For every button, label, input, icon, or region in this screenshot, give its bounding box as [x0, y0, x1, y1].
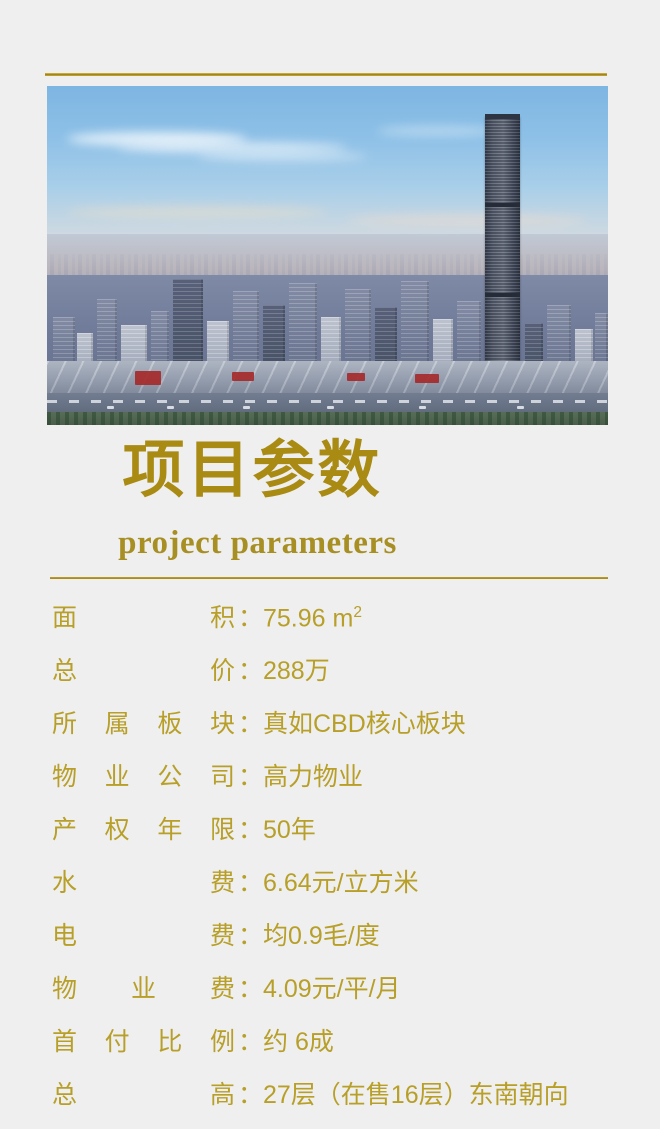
label-char: 公 — [157, 757, 182, 793]
label-char: 总 — [52, 1075, 77, 1111]
parameter-row: 产权年限：50年 — [0, 810, 660, 863]
label-char: 块 — [210, 704, 235, 740]
label-chars: 总价 — [52, 651, 237, 687]
parameter-row: 面积：75.96 m2 — [0, 598, 660, 651]
label-char: 板 — [157, 704, 182, 740]
parameter-label: 总高： — [0, 1075, 263, 1111]
mall-podium — [47, 361, 608, 395]
label-chars: 水费 — [52, 863, 237, 899]
label-char: 水 — [52, 863, 77, 899]
label-char: 物 — [52, 757, 77, 793]
signature-tower — [485, 117, 520, 387]
label-colon: ： — [237, 1075, 263, 1111]
parameter-row: 物业费：4.09元/平/月 — [0, 969, 660, 1022]
label-colon: ： — [237, 1022, 263, 1058]
page-title: 项目参数 — [0, 440, 660, 502]
label-chars: 电费 — [52, 916, 237, 952]
mall-sign — [135, 371, 161, 385]
label-chars: 物业费 — [52, 969, 237, 1005]
label-chars: 首付比例 — [52, 1022, 237, 1058]
vehicle — [327, 406, 334, 409]
parameter-row: 总价：288万 — [0, 651, 660, 704]
green-belt — [47, 412, 608, 425]
parameter-value: 288万 — [263, 651, 330, 687]
parameter-label: 总价： — [0, 651, 263, 687]
parameter-label: 首付比例： — [0, 1022, 263, 1058]
parameter-label: 面积： — [0, 598, 263, 634]
cloud — [67, 206, 327, 218]
label-char: 例 — [210, 1022, 235, 1058]
label-colon: ： — [237, 704, 263, 740]
label-colon: ： — [237, 757, 263, 793]
top-divider — [45, 73, 607, 76]
label-char: 产 — [52, 810, 77, 846]
parameter-label: 物业费： — [0, 969, 263, 1005]
section-divider — [50, 577, 608, 579]
label-colon: ： — [237, 810, 263, 846]
parameter-label: 水费： — [0, 863, 263, 899]
label-colon: ： — [237, 969, 263, 1005]
label-char: 付 — [105, 1022, 130, 1058]
label-colon: ： — [237, 863, 263, 899]
road — [47, 393, 608, 413]
parameter-value: 约 6成 — [263, 1022, 334, 1058]
parameter-row: 所属板块：真如CBD核心板块 — [0, 704, 660, 757]
label-colon: ： — [237, 651, 263, 687]
label-char: 权 — [105, 810, 130, 846]
label-char: 所 — [52, 704, 77, 740]
label-char: 业 — [105, 757, 130, 793]
label-char: 限 — [210, 810, 235, 846]
city-block — [47, 275, 608, 425]
parameter-table: 面积：75.96 m2总价：288万所属板块：真如CBD核心板块物业公司：高力物… — [0, 598, 660, 1128]
skyline-photograph — [47, 86, 608, 425]
label-char: 高 — [210, 1075, 235, 1111]
parameter-value: 50年 — [263, 810, 316, 846]
cloud — [347, 214, 587, 226]
label-colon: ： — [237, 598, 263, 634]
parameter-row: 物业公司：高力物业 — [0, 757, 660, 810]
label-char: 属 — [105, 704, 130, 740]
label-chars: 面积 — [52, 598, 237, 634]
label-char: 年 — [157, 810, 182, 846]
label-char: 比 — [157, 1022, 182, 1058]
label-char: 司 — [210, 757, 235, 793]
parameter-row: 总高：27层（在售16层）东南朝向 — [0, 1075, 660, 1128]
parameter-label: 电费： — [0, 916, 263, 952]
parameter-row: 首付比例：约 6成 — [0, 1022, 660, 1075]
label-char: 首 — [52, 1022, 77, 1058]
vehicle — [419, 406, 426, 409]
vehicle — [167, 406, 174, 409]
parameter-value: 均0.9毛/度 — [263, 916, 380, 952]
vehicle — [243, 406, 250, 409]
parameter-row: 水费：6.64元/立方米 — [0, 863, 660, 916]
tower-crown — [485, 114, 520, 119]
cloud — [377, 126, 497, 136]
parameter-label: 产权年限： — [0, 810, 263, 846]
label-chars: 所属板块 — [52, 704, 237, 740]
cloud — [197, 152, 367, 161]
label-char: 费 — [210, 969, 235, 1005]
label-char: 电 — [52, 916, 77, 952]
parameter-label: 所属板块： — [0, 704, 263, 740]
label-char: 业 — [131, 969, 156, 1005]
label-chars: 产权年限 — [52, 810, 237, 846]
mall-sign — [347, 373, 365, 381]
label-char: 物 — [52, 969, 77, 1005]
tower-band — [485, 203, 520, 207]
parameter-value: 高力物业 — [263, 757, 363, 793]
parameter-value: 6.64元/立方米 — [263, 863, 419, 899]
label-char: 价 — [210, 651, 235, 687]
parameter-row: 电费：均0.9毛/度 — [0, 916, 660, 969]
label-chars: 物业公司 — [52, 757, 237, 793]
mall-sign — [415, 374, 439, 383]
label-chars: 总高 — [52, 1075, 237, 1111]
parameter-value: 75.96 m2 — [263, 604, 362, 633]
label-char: 面 — [52, 598, 77, 634]
label-char: 积 — [210, 598, 235, 634]
parameter-value: 4.09元/平/月 — [263, 969, 401, 1005]
unit-superscript: 2 — [353, 604, 362, 621]
vehicle — [107, 406, 114, 409]
parameter-value: 27层（在售16层）东南朝向 — [263, 1075, 569, 1111]
vehicle — [517, 406, 524, 409]
label-char: 费 — [210, 916, 235, 952]
parameter-label: 物业公司： — [0, 757, 263, 793]
page-subtitle: project parameters — [0, 524, 660, 564]
tower-band — [485, 293, 520, 297]
label-colon: ： — [237, 916, 263, 952]
label-char: 总 — [52, 651, 77, 687]
label-char: 费 — [210, 863, 235, 899]
parameter-value: 真如CBD核心板块 — [263, 704, 466, 740]
mall-sign — [232, 372, 254, 381]
